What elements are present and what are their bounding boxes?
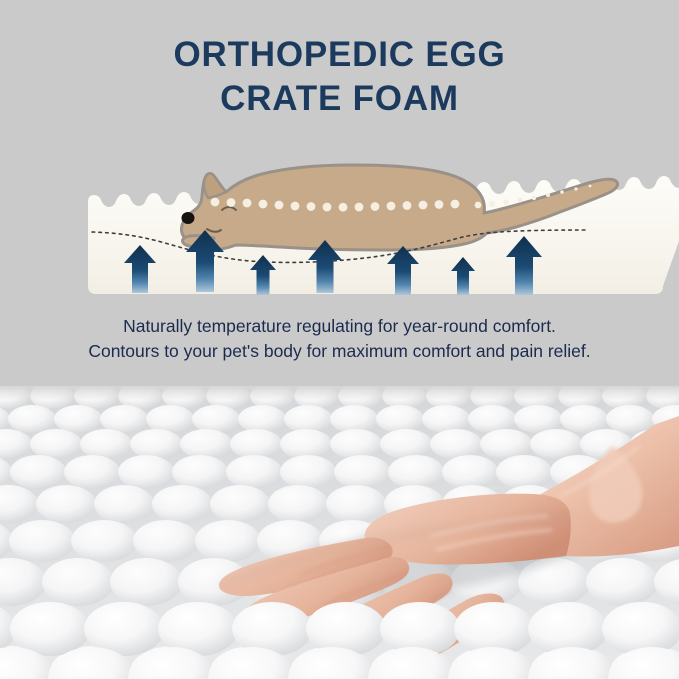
- body-copy-line-2: Contours to your pet's body for maximum …: [0, 339, 679, 364]
- hand-pressing-foam-photo: [0, 386, 679, 679]
- body-copy: Naturally temperature regulating for yea…: [0, 314, 679, 364]
- foreground-foam-bumps: [0, 602, 679, 679]
- page-title: ORTHOPEDIC EGG CRATE FOAM: [0, 33, 679, 121]
- page-title-line-2: CRATE FOAM: [0, 77, 679, 121]
- info-panel: ORTHOPEDIC EGG CRATE FOAM: [0, 0, 679, 386]
- dog-on-foam-illustration: [0, 128, 679, 313]
- dog-nose: [182, 212, 195, 224]
- page-title-line-1: ORTHOPEDIC EGG: [0, 33, 679, 77]
- body-copy-line-1: Naturally temperature regulating for yea…: [0, 314, 679, 339]
